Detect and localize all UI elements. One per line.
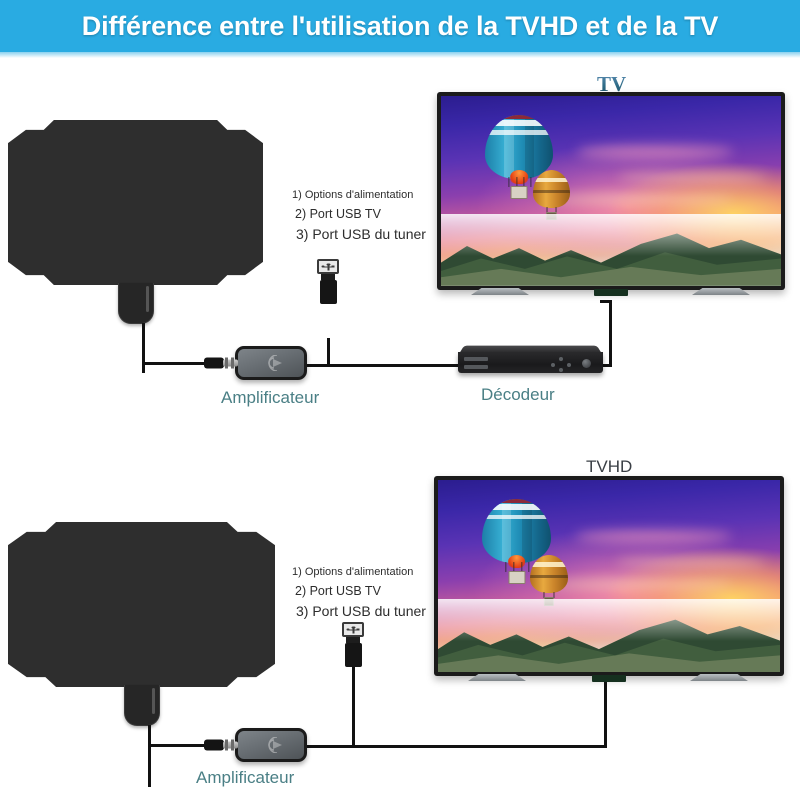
cable-amp-to-decoder [300, 364, 466, 367]
usb-icon [342, 622, 364, 637]
antenna-tab-highlight [146, 286, 149, 312]
decoder-indicator-4 [559, 368, 563, 372]
balloon-band [530, 562, 568, 567]
section-tvhd: TVHD 1) Options d'alimentation 2) Port U… [0, 440, 800, 800]
plug-ring-1 [225, 740, 228, 751]
screen-cloud-1 [577, 145, 733, 158]
balloon-crown [482, 499, 550, 503]
balloon-band [533, 178, 570, 183]
usb-shell [320, 280, 337, 304]
balloon-crown [485, 115, 553, 119]
decoder-power-knob [582, 359, 591, 368]
tv-bezel [434, 476, 784, 676]
balloon-envelope [533, 170, 570, 208]
option-item-1: 1) Options d'alimentation [292, 190, 426, 202]
page-title: Différence entre l'utilisation de la TVH… [82, 11, 718, 42]
antenna-connector-tab [124, 685, 160, 726]
device-label-tvhd: TVHD [586, 457, 632, 477]
option-item-3: 3) Port USB du tuner [292, 604, 426, 619]
page-header: Différence entre l'utilisation de la TVH… [0, 0, 800, 52]
screen-mist [441, 214, 781, 256]
options-list-tv: 1) Options d'alimentation 2) Port USB TV… [292, 190, 426, 241]
option-item-3: 3) Port USB du tuner [292, 227, 426, 242]
usb-icon [317, 259, 339, 274]
balloon-basket [508, 571, 525, 584]
decoder-label: Décodeur [481, 385, 555, 405]
options-list-tvhd: 1) Options d'alimentation 2) Port USB TV… [292, 567, 426, 618]
balloon-band-top [485, 120, 553, 126]
cable-usb-vertical [327, 338, 330, 366]
plug-ring-2 [231, 740, 234, 751]
option-item-2: 2) Port USB TV [292, 585, 426, 598]
balloon-band [533, 190, 570, 193]
decoder-indicator-3 [567, 363, 571, 367]
hot-air-balloon-small [533, 170, 570, 219]
balloon-band-mid [482, 515, 550, 519]
amplifier-tv [235, 346, 307, 380]
usb-trident-symbol [322, 263, 335, 270]
antenna-tab-highlight [152, 688, 155, 714]
balloon-basket [511, 186, 528, 199]
antenna-panel [8, 120, 263, 285]
tv-display-bottom [434, 476, 784, 676]
amplifier-label-tv: Amplificateur [221, 388, 319, 408]
decoder-slot-1 [464, 357, 488, 361]
amplifier-input-plug [204, 358, 238, 369]
decoder-box [458, 345, 603, 375]
tv-screen [438, 480, 780, 672]
plug-barrel [204, 740, 224, 751]
balloon-envelope [485, 115, 553, 179]
cable-to-tv-port [600, 300, 612, 303]
decoder-indicator-1 [559, 357, 563, 361]
plug-ring-1 [225, 358, 228, 369]
amplifier-input-plug [204, 740, 238, 751]
decoder-indicator-2 [551, 363, 555, 367]
cable-usb-vertical [352, 662, 355, 747]
balloon-band-mid [485, 130, 553, 134]
cable-antenna-to-amp [142, 362, 210, 365]
amplifier-label-tvhd: Amplificateur [196, 768, 294, 788]
balloon-envelope [530, 555, 568, 593]
antenna-connector-tab [118, 283, 154, 324]
tv-usb-port-bottom [592, 675, 626, 682]
plug-ring-2 [231, 358, 234, 369]
plug-barrel [204, 358, 224, 369]
balloon-band-top [482, 504, 550, 510]
tv-screen [441, 96, 781, 286]
screen-mist [438, 599, 780, 641]
decoder-front-panel [458, 352, 603, 373]
usb-trident-symbol [347, 626, 360, 633]
amplifier-tvhd [235, 728, 307, 762]
cable-antenna-to-amp [148, 744, 210, 747]
tv-usb-port-top [594, 289, 628, 296]
signal-amplifier-icon [258, 355, 284, 371]
balloon-envelope [482, 499, 550, 563]
decoder-slot-2 [464, 365, 488, 369]
cable-amp-to-tv [300, 745, 607, 748]
antenna-tv [8, 120, 263, 285]
usb-connector-tv [317, 259, 339, 304]
antenna-tvhd [8, 522, 275, 687]
usb-shell [345, 643, 362, 667]
cable-antenna-down [148, 725, 151, 787]
balloon-band [530, 575, 568, 578]
antenna-panel [8, 522, 275, 687]
hot-air-balloon-small [530, 555, 568, 605]
signal-amplifier-icon [258, 737, 284, 753]
cable-decoder-up-to-tv [609, 300, 612, 366]
usb-connector-tvhd [342, 622, 364, 667]
tv-display-top [437, 92, 785, 290]
section-tv: TV 1) Options d'alimentation 2) Port USB… [0, 58, 800, 428]
option-item-1: 1) Options d'alimentation [292, 567, 426, 579]
option-item-2: 2) Port USB TV [292, 208, 426, 221]
cable-antenna-down [142, 323, 145, 373]
tv-bezel [437, 92, 785, 290]
